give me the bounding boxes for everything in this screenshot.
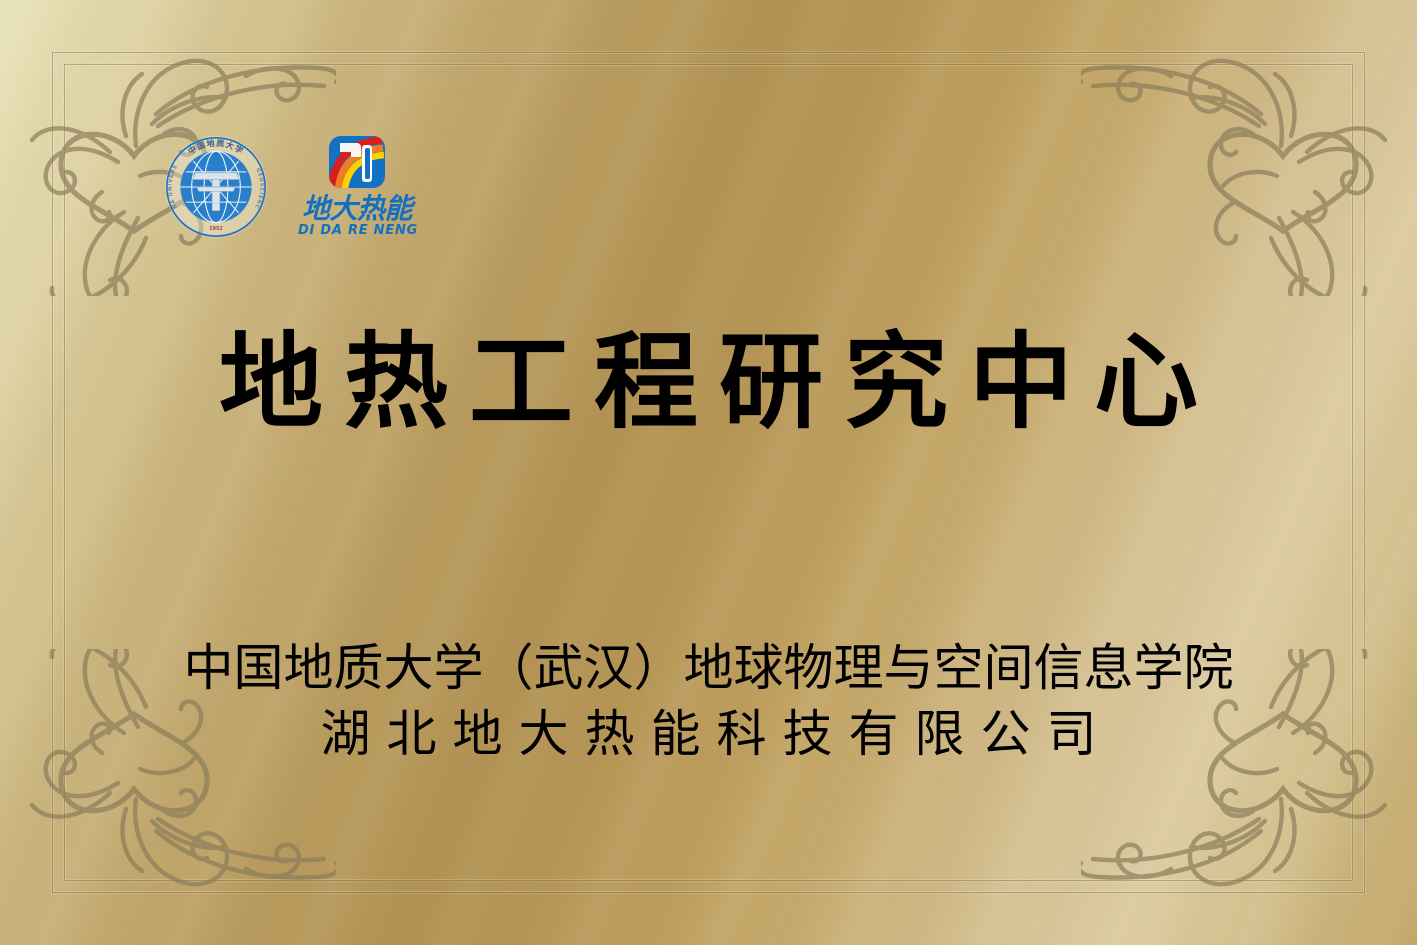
university-seal-icon: 中国地质大学 CHINA UNIVERSITY OF GEOSCIENCES 1… — [162, 133, 270, 241]
company-pinyin: DI DA RE NENG — [298, 223, 418, 238]
organization-block: 中国地质大学（武汉）地球物理与空间信息学院 湖北地大热能科技有限公司 — [0, 636, 1417, 767]
company-logo-icon: 地大热能 DI DA RE NENG — [292, 135, 422, 239]
seal-year-text: 1952 — [209, 226, 223, 232]
organization-line-university: 中国地质大学（武汉）地球物理与空间信息学院 — [0, 636, 1417, 701]
company-chinese-name: 地大热能 — [302, 192, 417, 225]
corner-ornament-top-right-icon — [1081, 6, 1411, 296]
organization-line-company: 湖北地大热能科技有限公司 — [0, 701, 1417, 767]
logo-group: 中国地质大学 CHINA UNIVERSITY OF GEOSCIENCES 1… — [162, 133, 422, 241]
plaque-board: 中国地质大学 CHINA UNIVERSITY OF GEOSCIENCES 1… — [0, 0, 1417, 945]
page-title: 地热工程研究中心 — [0, 326, 1417, 438]
